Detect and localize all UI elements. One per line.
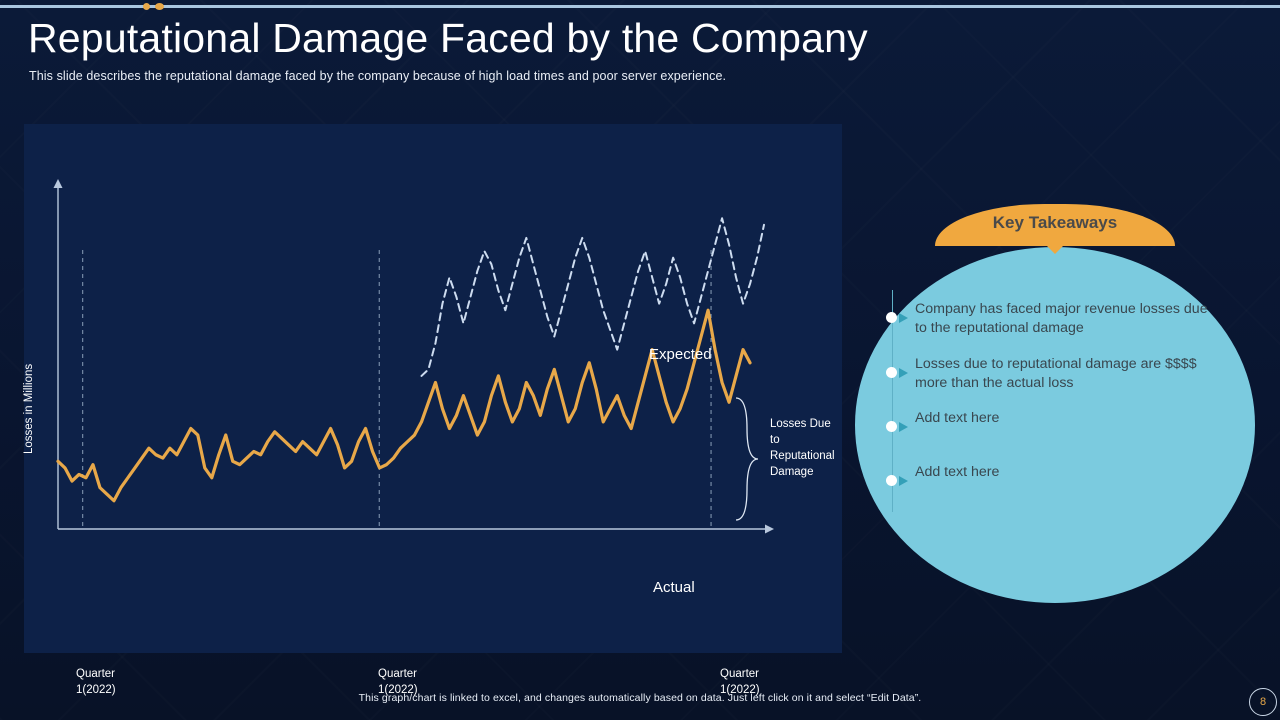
bullet-dot-icon	[886, 475, 897, 486]
banner-notch-icon	[1046, 245, 1064, 254]
losses-line-chart	[24, 124, 842, 653]
top-divider	[0, 5, 1280, 8]
list-item-label: Losses due to reputational damage are $$…	[915, 355, 1215, 393]
footer-note: This graph/chart is linked to excel, and…	[0, 692, 1280, 704]
actual-series-label: Actual	[653, 579, 695, 596]
bullet-arrow-icon	[899, 422, 908, 432]
page-subtitle: This slide describes the reputational da…	[29, 69, 726, 83]
page-title: Reputational Damage Faced by the Company	[28, 17, 868, 60]
chart-panel: Losses in Millions Expected Actual Losse…	[24, 124, 842, 653]
bullet-dot-icon	[886, 312, 897, 323]
bullet-dot-icon	[886, 421, 897, 432]
bullet-arrow-icon	[899, 368, 908, 378]
bullet-arrow-icon	[899, 313, 908, 323]
chart-y-axis-label: Losses in Millions	[23, 364, 35, 454]
list-item-label: Company has faced major revenue losses d…	[915, 300, 1215, 338]
top-accent-dot-secondary-icon	[155, 3, 164, 10]
key-takeaways-title: Key Takeaways	[935, 213, 1175, 233]
list-item-label: Add text here	[915, 463, 1215, 482]
bracket-annotation-label: Losses Due to Reputational Damage	[770, 416, 836, 480]
expected-series-label: Expected	[649, 346, 712, 363]
top-accent-dot-icon	[143, 3, 150, 10]
bullet-dot-icon	[886, 367, 897, 378]
list-item-label: Add text here	[915, 409, 1215, 428]
bullet-arrow-icon	[899, 476, 908, 486]
slide-root: Reputational Damage Faced by the Company…	[0, 0, 1280, 720]
page-number-badge: 8	[1249, 688, 1277, 716]
